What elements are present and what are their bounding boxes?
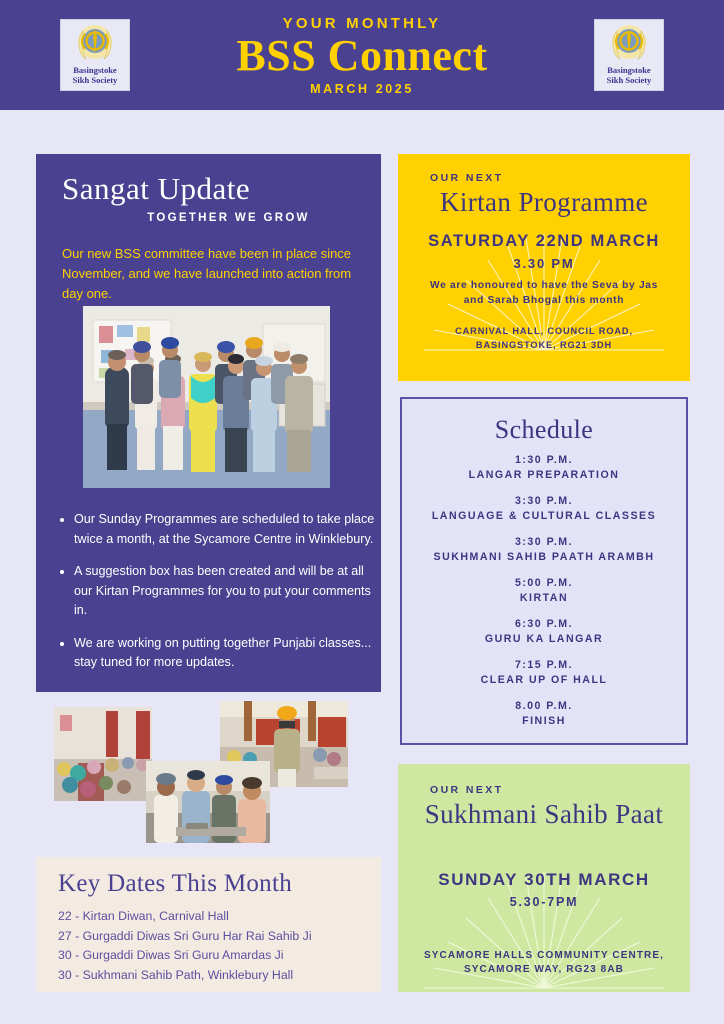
list-item: 27 - Gurgaddi Diwas Sri Guru Har Rai Sah… xyxy=(58,927,359,947)
schedule-item-label: CLEAR UP OF HALL xyxy=(402,673,686,688)
schedule-item: 3:30 P.M. SUKHMANI SAHIB PAATH ARAMBH xyxy=(402,535,686,565)
logo-right: Basingstoke Sikh Society xyxy=(594,19,664,91)
schedule-item: 5:00 P.M. KIRTAN xyxy=(402,576,686,606)
sangat-title: Sangat Update xyxy=(62,172,355,206)
issue-date: MARCH 2025 xyxy=(130,82,594,96)
sukhmani-sahib-paat-card: OUR NEXT Sukhmani Sahib Paat xyxy=(398,764,690,992)
sukhmani-venue: SYCAMORE HALLS COMMUNITY CENTRE, SYCAMOR… xyxy=(414,949,674,977)
schedule-item: 8.00 P.M. FINISH xyxy=(402,699,686,729)
collage-photo-3 xyxy=(146,761,270,843)
schedule-title: Schedule xyxy=(402,415,686,445)
schedule-item: 6:30 P.M. GURU KA LANGAR xyxy=(402,617,686,647)
list-item: A suggestion box has been created and wi… xyxy=(74,562,384,621)
header-titles: YOUR MONTHLY BSS Connect MARCH 2025 xyxy=(130,15,594,96)
schedule-box: Schedule 1:30 P.M. LANGAR PREPARATION 3:… xyxy=(400,397,688,745)
photo-collage xyxy=(36,695,381,845)
sukhmani-title: Sukhmani Sahib Paat xyxy=(414,798,674,830)
schedule-item-label: LANGAR PREPARATION xyxy=(402,468,686,483)
page-header: Basingstoke Sikh Society YOUR MONTHLY BS… xyxy=(0,0,724,110)
schedule-item-time: 8.00 P.M. xyxy=(402,699,686,714)
schedule-item-time: 1:30 P.M. xyxy=(402,453,686,468)
schedule-item-label: KIRTAN xyxy=(402,591,686,606)
langar-seva-photo xyxy=(146,761,270,843)
logo-right-text: Basingstoke Sikh Society xyxy=(607,66,652,85)
key-dates-list: 22 - Kirtan Diwan, Carnival Hall 27 - Gu… xyxy=(58,907,359,985)
schedule-item-label: LANGUAGE & CULTURAL CLASSES xyxy=(402,509,686,524)
kirtan-date: SATURDAY 22ND MARCH xyxy=(414,232,674,251)
list-item: Our Sunday Programmes are scheduled to t… xyxy=(74,510,384,549)
sangat-bullet-list: Our Sunday Programmes are scheduled to t… xyxy=(58,510,384,686)
logo-left-text: Basingstoke Sikh Society xyxy=(73,66,118,85)
key-dates-section: Key Dates This Month 22 - Kirtan Diwan, … xyxy=(36,857,381,992)
list-item: 30 - Sukhmani Sahib Path, Winklebury Hal… xyxy=(58,966,359,986)
kirtan-eyebrow: OUR NEXT xyxy=(414,172,674,184)
logo-left: Basingstoke Sikh Society xyxy=(60,19,130,91)
sangat-hall-photo xyxy=(54,707,152,801)
schedule-item-label: SUKHMANI SAHIB PAATH ARAMBH xyxy=(402,550,686,565)
sukhmani-eyebrow: OUR NEXT xyxy=(414,784,674,796)
schedule-list: 1:30 P.M. LANGAR PREPARATION 3:30 P.M. L… xyxy=(402,453,686,729)
sukhmani-date: SUNDAY 30TH MARCH xyxy=(414,870,674,890)
kirtan-title: Kirtan Programme xyxy=(414,186,674,218)
kirtan-time: 3.30 PM xyxy=(414,256,674,271)
kirtan-venue: CARNIVAL HALL, COUNCIL ROAD, BASINGSTOKE… xyxy=(414,324,674,352)
committee-photo xyxy=(83,306,330,488)
schedule-item-time: 7:15 P.M. xyxy=(402,658,686,673)
schedule-item: 3:30 P.M. LANGUAGE & CULTURAL CLASSES xyxy=(402,494,686,524)
list-item: 30 - Gurgaddi Diwas Sri Guru Amardas Ji xyxy=(58,946,359,966)
key-dates-title: Key Dates This Month xyxy=(58,869,359,899)
schedule-item-time: 3:30 P.M. xyxy=(402,535,686,550)
khanda-logo-icon xyxy=(607,23,651,65)
list-item: 22 - Kirtan Diwan, Carnival Hall xyxy=(58,907,359,927)
schedule-item: 1:30 P.M. LANGAR PREPARATION xyxy=(402,453,686,483)
khanda-logo-icon xyxy=(73,23,117,65)
kirtan-programme-card: OUR NEXT Kirtan Programme xyxy=(398,154,690,381)
schedule-item-time: 3:30 P.M. xyxy=(402,494,686,509)
schedule-item-label: GURU KA LANGAR xyxy=(402,632,686,647)
sangat-subtitle: TOGETHER WE GROW xyxy=(62,212,355,224)
schedule-item-label: FINISH xyxy=(402,714,686,729)
schedule-item-time: 6:30 P.M. xyxy=(402,617,686,632)
committee-photo-image xyxy=(83,306,330,488)
list-item: We are working on putting together Punja… xyxy=(74,634,384,673)
kirtan-note: We are honoured to have the Seva by Jas … xyxy=(414,278,674,308)
sukhmani-time: 5.30-7PM xyxy=(414,895,674,909)
sangat-body-text: Our new BSS committee have been in place… xyxy=(62,244,355,304)
header-kicker: YOUR MONTHLY xyxy=(130,15,594,32)
schedule-item: 7:15 P.M. CLEAR UP OF HALL xyxy=(402,658,686,688)
schedule-item-time: 5:00 P.M. xyxy=(402,576,686,591)
page-title: BSS Connect xyxy=(130,33,594,79)
collage-photo-1 xyxy=(54,707,152,801)
